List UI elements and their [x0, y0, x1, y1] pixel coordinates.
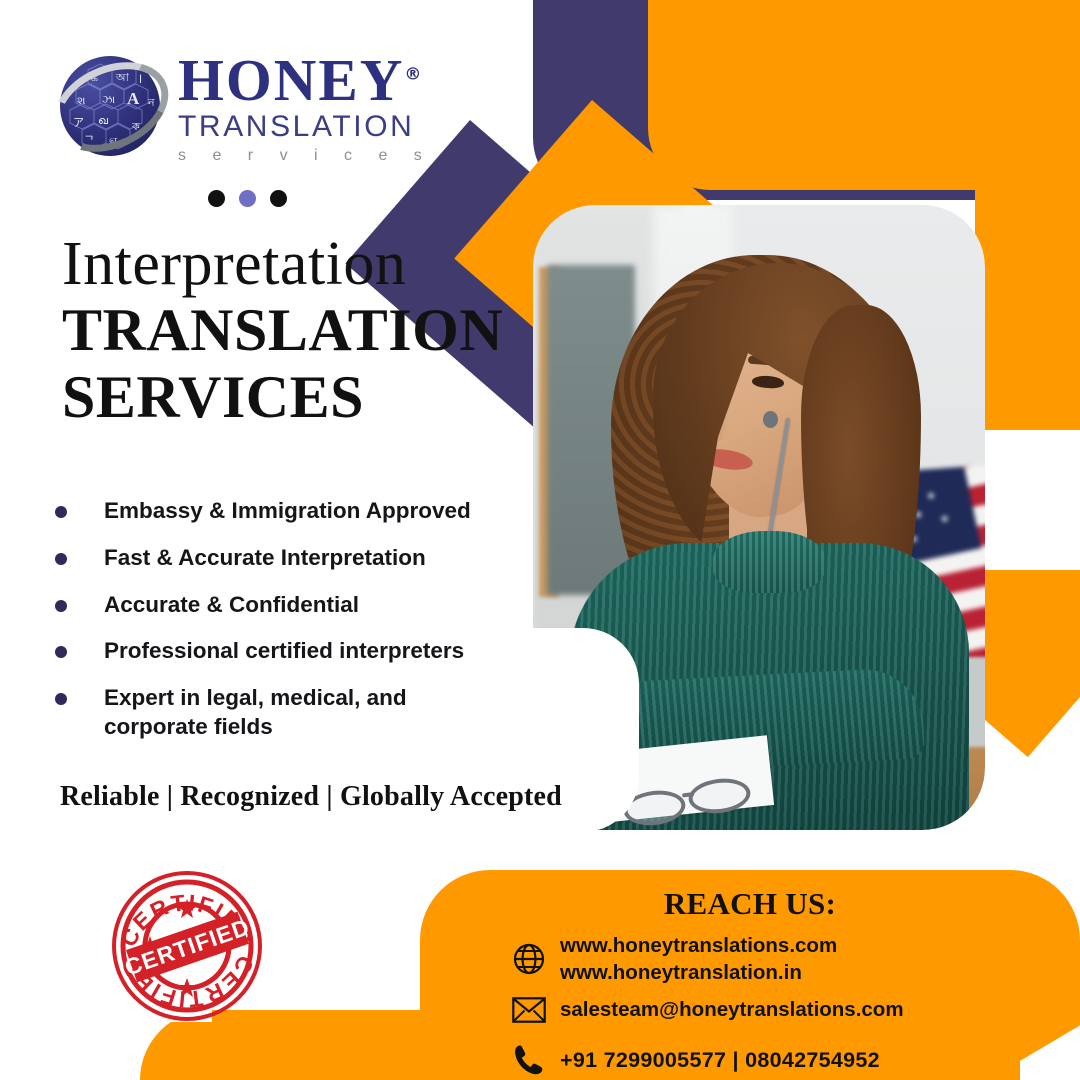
dot-separator [208, 190, 287, 207]
headline-script: Interpretation [62, 232, 503, 297]
bullet-dot-icon [55, 693, 67, 705]
contact-phone-text[interactable]: +91 7299005577 | 08042754952 [560, 1046, 880, 1075]
contact-phone-row[interactable]: +91 7299005577 | 08042754952 [508, 1044, 880, 1076]
bullet-dot-icon [55, 600, 67, 612]
bullet-dot-icon [55, 553, 67, 565]
list-item-label: Professional certified interpreters [104, 637, 464, 666]
brand-logo[interactable]: க আ ا શ ઝા A ন ア ഖ ᄀ எ ক HONEY® TRANSLAT… [52, 48, 433, 165]
contact-email-text[interactable]: salesteam@honeytranslations.com [560, 996, 904, 1023]
logo-line-translation: TRANSLATION [178, 110, 433, 145]
certified-stamp-svg: CERTIFIED CERTIFIED CERTIFIED [106, 868, 268, 1023]
contact-title: REACH US: [420, 886, 1080, 922]
logo-name-text: HONEY [178, 47, 404, 113]
envelope-icon [508, 997, 550, 1023]
orange-top-shape [648, 0, 1080, 190]
globe-logo-icon: க আ ا શ ઝા A ন ア ഖ ᄀ எ ক [52, 48, 170, 164]
registered-mark: ® [404, 64, 421, 84]
list-item-label: Embassy & Immigration Approved [104, 497, 471, 526]
contact-panel: REACH US: www.honeytranslations.com www.… [420, 870, 1080, 1080]
list-item: Professional certified interpreters [55, 637, 525, 666]
dot-1 [208, 190, 225, 207]
list-item-label: Accurate & Confidential [104, 591, 359, 620]
logo-line-services: s e r v i c e s [178, 147, 433, 165]
list-item-label: Expert in legal, medical, and corporate … [104, 684, 454, 742]
contact-website-text: www.honeytranslations.com www.honeytrans… [560, 932, 837, 987]
website-1[interactable]: www.honeytranslations.com [560, 932, 837, 959]
dot-2 [239, 190, 256, 207]
globe-icon [508, 942, 550, 976]
certified-stamp-icon: CERTIFIED CERTIFIED CERTIFIED [106, 868, 268, 1023]
tagline: Reliable | Recognized | Globally Accepte… [60, 781, 562, 813]
list-item: Fast & Accurate Interpretation [55, 544, 525, 573]
phone-icon [508, 1044, 550, 1076]
collar-ribbing [713, 531, 825, 593]
logo-wordmark: HONEY® TRANSLATION s e r v i c e s [178, 48, 433, 165]
contact-website-row[interactable]: www.honeytranslations.com www.honeytrans… [508, 932, 837, 987]
bullet-dot-icon [55, 506, 67, 518]
poster-canvas: க আ ا શ ઝા A ন ア ഖ ᄀ எ ক HONEY® TRANSLAT… [0, 0, 1080, 1080]
contact-email-row[interactable]: salesteam@honeytranslations.com [508, 996, 904, 1023]
bullet-dot-icon [55, 646, 67, 658]
feature-list: Embassy & Immigration Approved Fast & Ac… [55, 497, 525, 742]
earphone-bud-icon [763, 411, 778, 428]
headline-block: Interpretation TRANSLATION SERVICES [62, 232, 503, 430]
headline-bold-2: SERVICES [62, 364, 503, 431]
list-item: Accurate & Confidential [55, 591, 525, 620]
list-item: Embassy & Immigration Approved [55, 497, 525, 526]
website-2[interactable]: www.honeytranslation.in [560, 959, 837, 986]
dot-3 [270, 190, 287, 207]
list-item: Expert in legal, medical, and corporate … [55, 684, 525, 742]
logo-name: HONEY® [178, 52, 421, 109]
lens-right [687, 775, 753, 816]
list-item-label: Fast & Accurate Interpretation [104, 544, 426, 573]
headline-bold-1: TRANSLATION [62, 297, 503, 364]
